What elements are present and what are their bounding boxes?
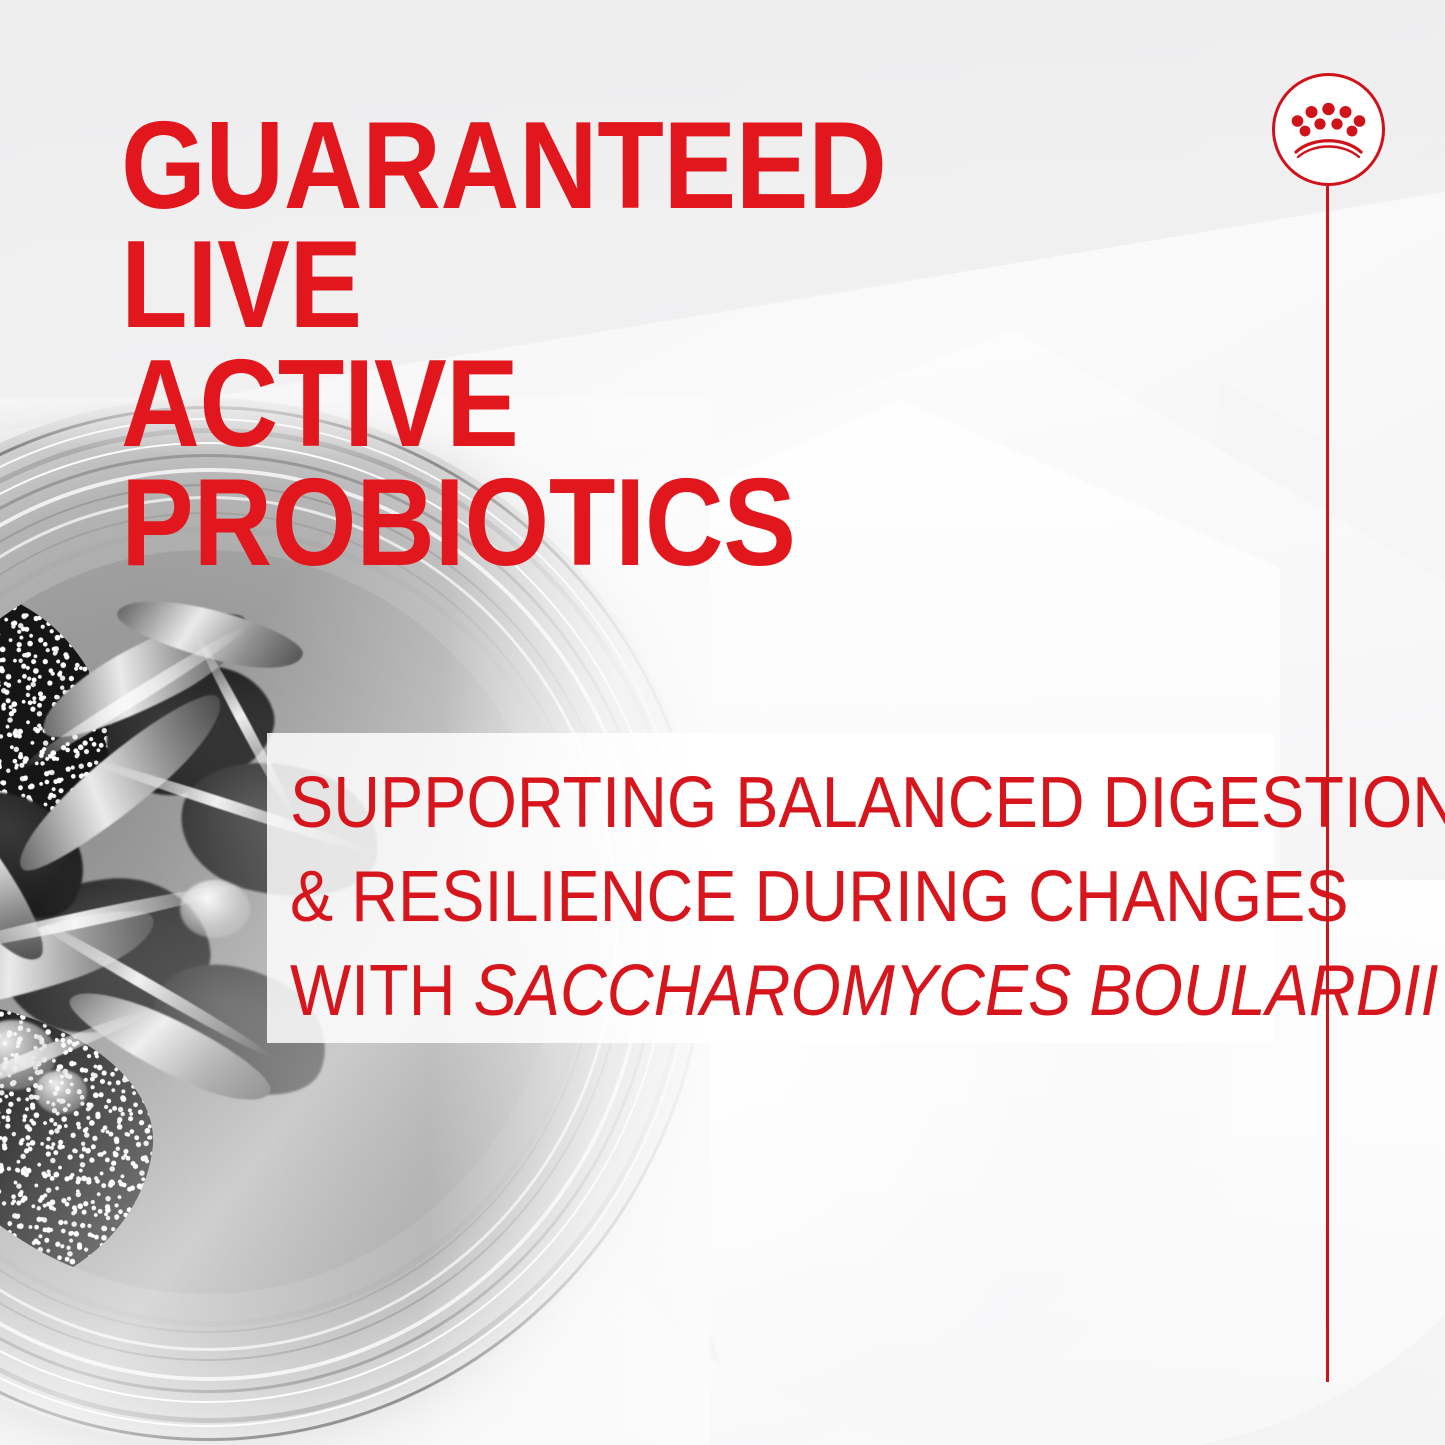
subtitle-block: SUPPORTING BALANCED DIGESTION & RESILIEN… <box>290 756 1190 1038</box>
subtitle-line-1: SUPPORTING BALANCED DIGESTION <box>290 756 1190 850</box>
sauce-droplet <box>35 1070 87 1114</box>
page-title: GUARANTEED LIVE ACTIVE PROBIOTICS <box>121 107 1107 583</box>
royal-canin-crown-icon <box>1290 102 1367 158</box>
species-name-italic: SACCHAROMYCES BOULARDII <box>474 951 1439 1031</box>
subtitle-line-3-prefix: WITH <box>290 951 474 1031</box>
logo-stem-line <box>1326 186 1329 1382</box>
subtitle-line-3: WITH SACCHAROMYCES BOULARDII <box>290 944 1190 1038</box>
sauce-droplet <box>180 880 250 938</box>
marketing-banner: GUARANTEED LIVE ACTIVE PROBIOTICS SUPPOR… <box>0 0 1445 1445</box>
brand-logo <box>1272 73 1385 186</box>
subtitle-line-2: & RESILIENCE DURING CHANGES <box>290 850 1190 944</box>
